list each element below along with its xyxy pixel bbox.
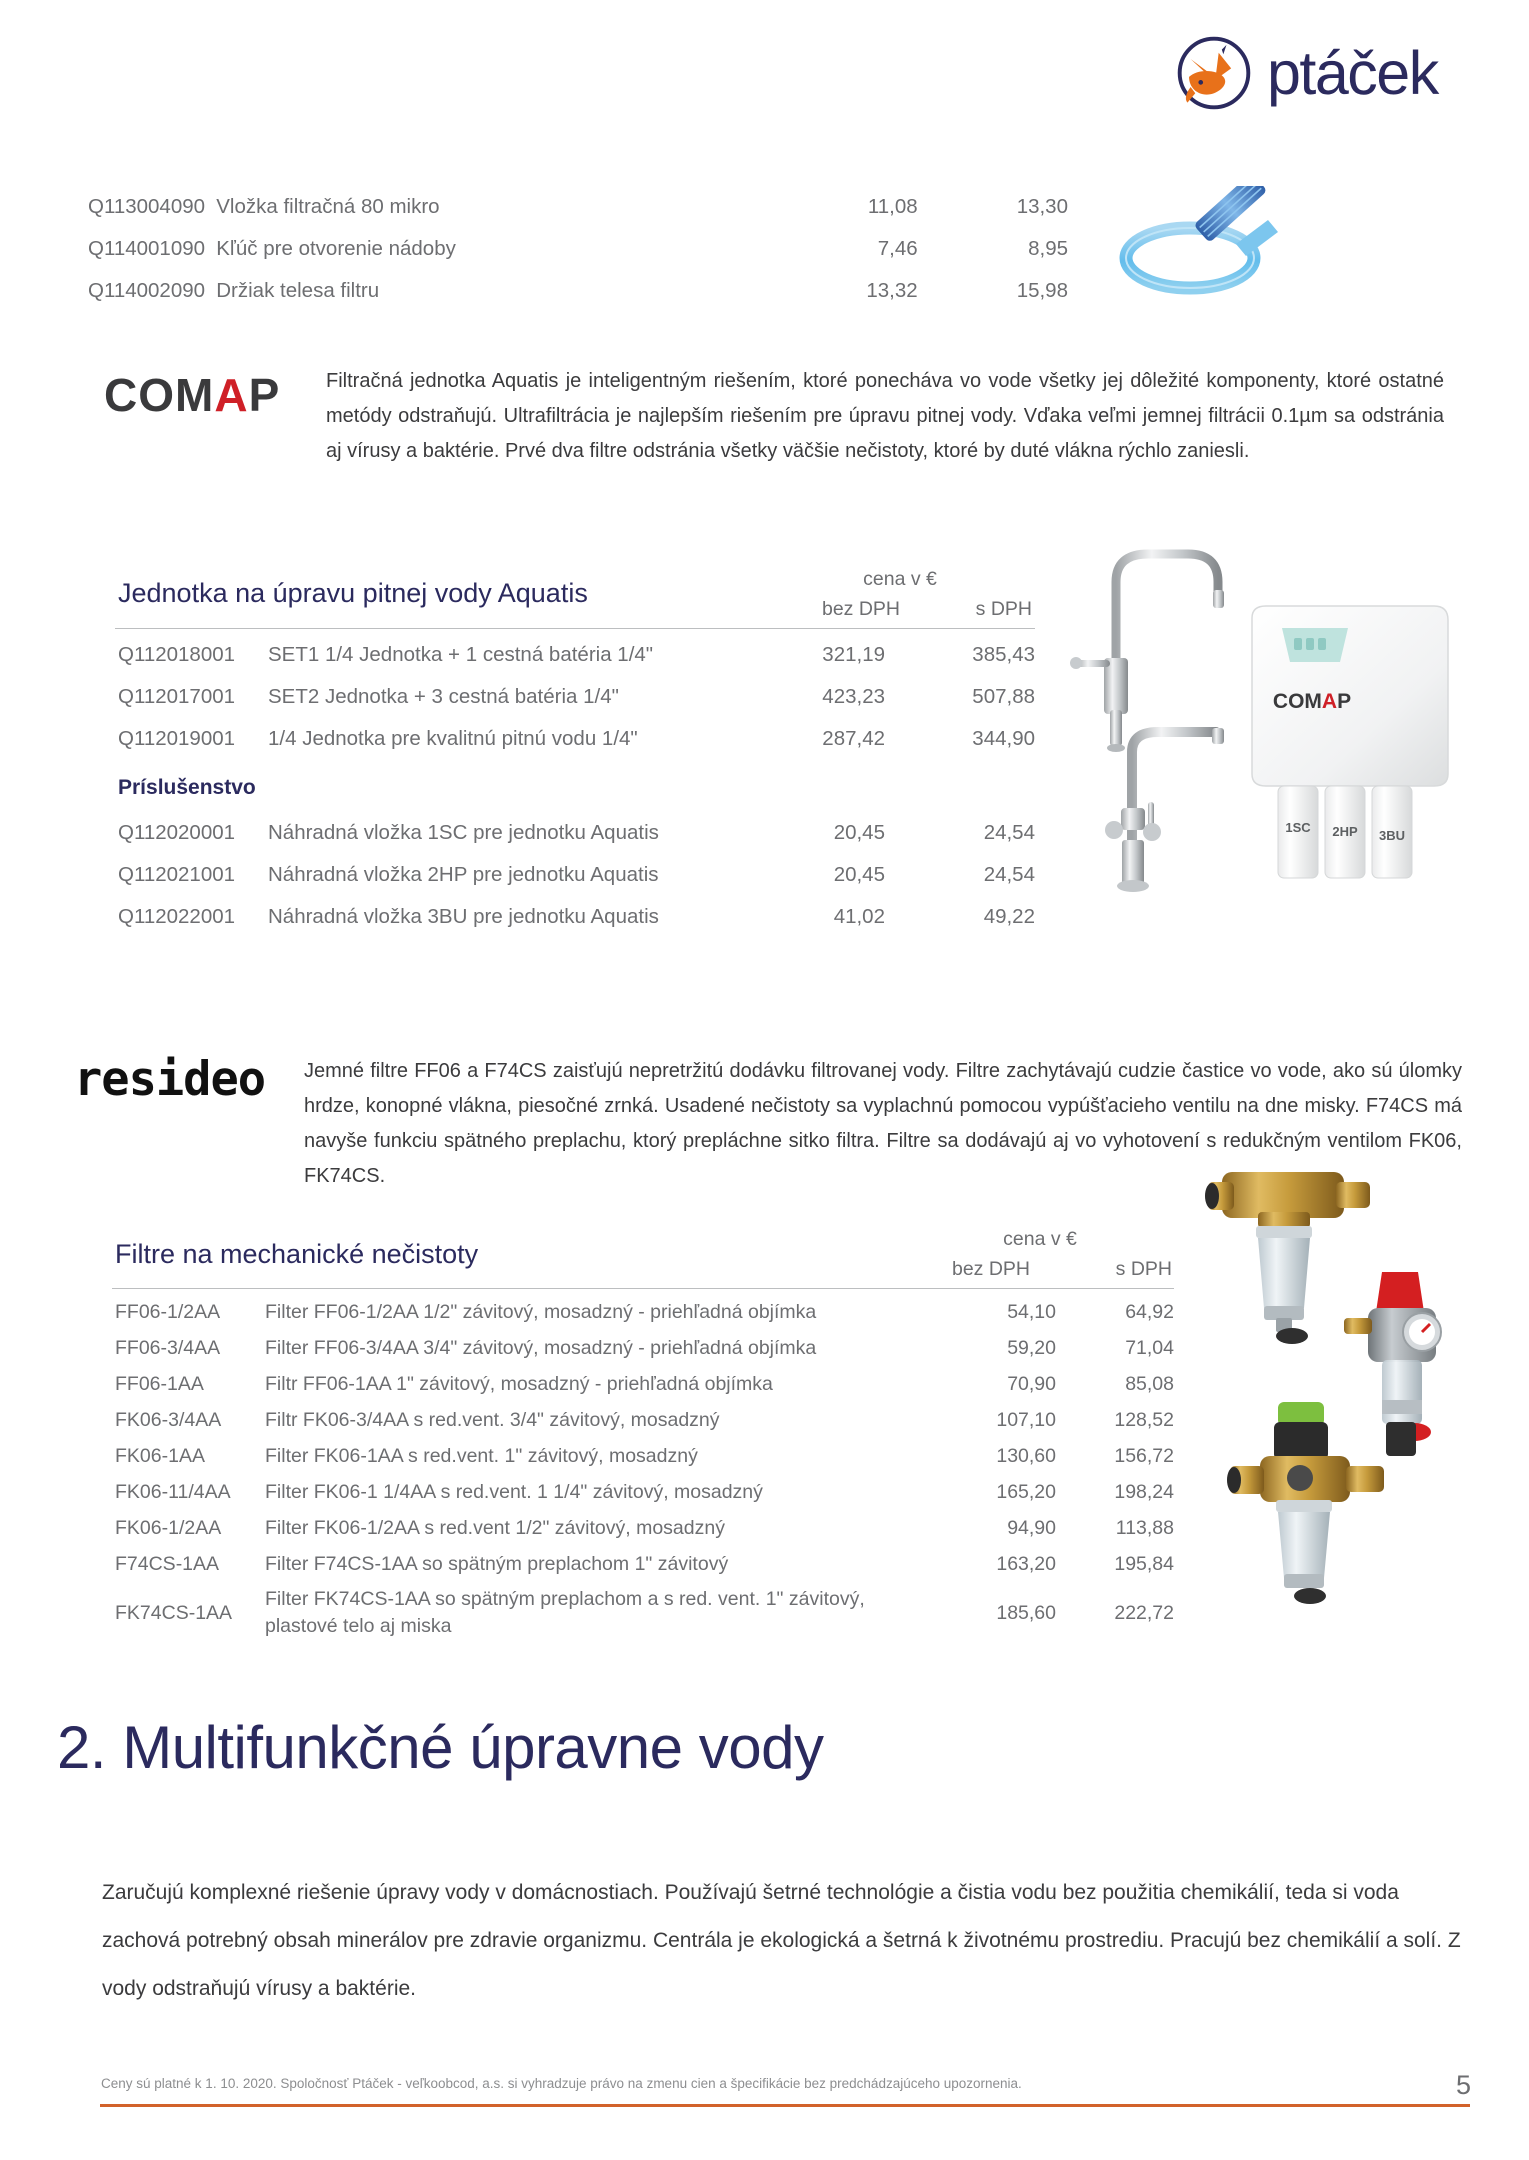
part-desc: SET1 1/4 Jednotka + 1 cestná batéria 1/4…	[268, 634, 745, 676]
price-with-vat: 128,52	[1056, 1402, 1174, 1438]
price-no-vat: 185,60	[936, 1582, 1056, 1644]
price-with-vat: 113,88	[1056, 1510, 1174, 1546]
part-code: FK74CS-1AA	[115, 1582, 265, 1644]
price-with-vat: 198,24	[1056, 1474, 1174, 1510]
filters-table: FF06-1/2AA Filter FF06-1/2AA 1/2" závito…	[115, 1294, 1174, 1644]
filters-price-header: cena v €	[940, 1228, 1140, 1251]
price-with-vat: 13,30	[918, 186, 1068, 228]
table-row: FK06-11/4AA Filter FK06-1 1/4AA s red.ve…	[115, 1474, 1174, 1510]
ff06-filter	[1205, 1172, 1370, 1344]
table-row: FK06-3/4AA Filtr FK06-3/4AA s red.vent. …	[115, 1402, 1174, 1438]
price-no-vat: 130,60	[936, 1438, 1056, 1474]
faucet-tall	[1070, 554, 1224, 752]
part-desc: Náhradná vložka 2HP pre jednotku Aquatis	[268, 854, 745, 896]
price-with-vat: 24,54	[885, 812, 1035, 854]
part-code: Q112019001	[118, 718, 268, 760]
table-row: Q114001090 Kľúč pre otvorenie nádoby 7,4…	[88, 228, 1068, 270]
brand-wordmark: ptáček	[1267, 43, 1438, 104]
part-code: FK06-1/2AA	[115, 1510, 265, 1546]
part-desc: Kľúč pre otvorenie nádoby	[216, 228, 757, 270]
part-code: Q114001090	[88, 228, 216, 270]
price-no-vat: 59,20	[936, 1330, 1056, 1366]
price-no-vat: 54,10	[936, 1294, 1056, 1330]
svg-text:3BU: 3BU	[1379, 828, 1405, 843]
table-row: F74CS-1AA Filter F74CS-1AA so spätným pr…	[115, 1546, 1174, 1582]
top-parts-table: Q113004090 Vložka filtračná 80 mikro 11,…	[88, 186, 1068, 312]
price-no-vat: 287,42	[745, 718, 885, 760]
price-with-vat: 385,43	[885, 634, 1035, 676]
part-code: FK06-11/4AA	[115, 1474, 265, 1510]
part-code: FF06-3/4AA	[115, 1330, 265, 1366]
table-row: FK06-1AA Filter FK06-1AA s red.vent. 1" …	[115, 1438, 1174, 1474]
price-with-vat: 156,72	[1056, 1438, 1174, 1474]
part-desc: Filtr FK06-3/4AA s red.vent. 3/4" závito…	[265, 1402, 936, 1438]
section2-heading: 2. Multifunkčné úpravne vody	[57, 1718, 823, 1778]
filters-table-title: Filtre na mechanické nečistoty	[115, 1239, 635, 1270]
accessories-title: Príslušenstvo	[118, 776, 256, 800]
table-row: FF06-3/4AA Filter FF06-3/4AA 3/4" závito…	[115, 1330, 1174, 1366]
part-desc: Filter FF06-3/4AA 3/4" závitový, mosadzn…	[265, 1330, 936, 1366]
svg-text:1SC: 1SC	[1285, 820, 1311, 835]
price-no-vat: 11,08	[757, 186, 917, 228]
section2-description: Zaručujú komplexné riešenie úpravy vody …	[102, 1869, 1462, 2013]
price-with-vat: 507,88	[885, 676, 1035, 718]
part-desc: Filter FK74CS-1AA so spätným preplachom …	[265, 1582, 936, 1644]
faucet-short	[1105, 728, 1224, 892]
price-with-vat: 64,92	[1056, 1294, 1174, 1330]
table-row: FF06-1/2AA Filter FF06-1/2AA 1/2" závito…	[115, 1294, 1174, 1330]
price-with-vat: 71,04	[1056, 1330, 1174, 1366]
price-with-vat: 24,54	[885, 854, 1035, 896]
aquatis-price-header: cena v €	[800, 568, 1000, 591]
part-code: FF06-1AA	[115, 1366, 265, 1402]
fk06-filter	[1227, 1402, 1384, 1604]
table-row: Q112022001 Náhradná vložka 3BU pre jedno…	[118, 896, 1035, 938]
table-row: Q112021001 Náhradná vložka 2HP pre jedno…	[118, 854, 1035, 896]
price-with-vat: 15,98	[918, 270, 1068, 312]
price-with-vat: 85,08	[1056, 1366, 1174, 1402]
price-no-vat: 165,20	[936, 1474, 1056, 1510]
part-code: FF06-1/2AA	[115, 1294, 265, 1330]
catalog-page: ptáček Q113004090 Vložka filtračná 80 mi…	[0, 0, 1529, 2160]
table-row: Q112017001 SET2 Jednotka + 3 cestná baté…	[118, 676, 1035, 718]
comap-logo-part3: P	[249, 369, 281, 421]
table-row: FK74CS-1AA Filter FK74CS-1AA so spätným …	[115, 1582, 1174, 1644]
part-code: Q112017001	[118, 676, 268, 718]
comap-logo: COMAP	[104, 372, 280, 418]
table-row: Q114002090 Držiak telesa filtru 13,32 15…	[88, 270, 1068, 312]
part-desc: Filter F74CS-1AA so spätným preplachom 1…	[265, 1546, 936, 1582]
part-desc: Filtr FF06-1AA 1" závitový, mosadzný - p…	[265, 1366, 936, 1402]
price-no-vat: 41,02	[745, 896, 885, 938]
part-code: Q114002090	[88, 270, 216, 312]
price-no-vat: 20,45	[745, 854, 885, 896]
part-code: FK06-1AA	[115, 1438, 265, 1474]
aquatis-product-image: COMAP 1SC 2HP 3BU	[1030, 540, 1480, 900]
part-code: Q112022001	[118, 896, 268, 938]
part-desc: Držiak telesa filtru	[216, 270, 757, 312]
price-no-vat: 7,46	[757, 228, 917, 270]
price-with-vat: 195,84	[1056, 1546, 1174, 1582]
part-desc: Filter FF06-1/2AA 1/2" závitový, mosadzn…	[265, 1294, 936, 1330]
filters-col-vat: s DPH	[1000, 1258, 1172, 1281]
table-row: Q112020001 Náhradná vložka 1SC pre jedno…	[118, 812, 1035, 854]
footer-note: Ceny sú platné k 1. 10. 2020. Spoločnosť…	[101, 2076, 1022, 2091]
table-row: Q113004090 Vložka filtračná 80 mikro 11,…	[88, 186, 1068, 228]
price-no-vat: 163,20	[936, 1546, 1056, 1582]
price-with-vat: 49,22	[885, 896, 1035, 938]
aquatis-table: Q112018001 SET1 1/4 Jednotka + 1 cestná …	[118, 634, 1035, 760]
footer-rule	[100, 2104, 1470, 2107]
price-with-vat: 8,95	[918, 228, 1068, 270]
part-desc: SET2 Jednotka + 3 cestná batéria 1/4"	[268, 676, 745, 718]
svg-text:2HP: 2HP	[1332, 824, 1358, 839]
brand-logo: ptáček	[1175, 34, 1438, 112]
aquatis-unit-body: COMAP 1SC 2HP 3BU	[1252, 606, 1448, 878]
part-desc: Filter FK06-1/2AA s red.vent 1/2" závito…	[265, 1510, 936, 1546]
filter-wrench-image	[1118, 186, 1338, 296]
aquatis-table-title: Jednotka na úpravu pitnej vody Aquatis	[118, 578, 618, 609]
price-with-vat: 344,90	[885, 718, 1035, 760]
part-desc: Filter FK06-1AA s red.vent. 1" závitový,…	[265, 1438, 936, 1474]
part-code: Q112020001	[118, 812, 268, 854]
fk74cs-filter	[1344, 1272, 1441, 1456]
comap-logo-part1: COM	[104, 369, 214, 421]
part-desc: Náhradná vložka 3BU pre jednotku Aquatis	[268, 896, 745, 938]
comap-logo-part2: A	[214, 369, 248, 421]
part-code: F74CS-1AA	[115, 1546, 265, 1582]
table-row: Q112018001 SET1 1/4 Jednotka + 1 cestná …	[118, 634, 1035, 676]
part-code: Q112018001	[118, 634, 268, 676]
table-row: FF06-1AA Filtr FF06-1AA 1" závitový, mos…	[115, 1366, 1174, 1402]
table-row: Q112019001 1/4 Jednotka pre kvalitnú pit…	[118, 718, 1035, 760]
page-number: 5	[1456, 2070, 1471, 2101]
price-no-vat: 70,90	[936, 1366, 1056, 1402]
price-no-vat: 423,23	[745, 676, 885, 718]
part-code: Q113004090	[88, 186, 216, 228]
ptacek-bird-icon	[1175, 34, 1253, 112]
aquatis-accessories-table: Q112020001 Náhradná vložka 1SC pre jedno…	[118, 812, 1035, 938]
table-row: FK06-1/2AA Filter FK06-1/2AA s red.vent …	[115, 1510, 1174, 1546]
part-desc: Náhradná vložka 1SC pre jednotku Aquatis	[268, 812, 745, 854]
mechanical-filters-image	[1186, 1160, 1486, 1610]
price-no-vat: 321,19	[745, 634, 885, 676]
price-with-vat: 222,72	[1056, 1582, 1174, 1644]
resideo-logo: resideo	[74, 1056, 265, 1103]
part-desc: 1/4 Jednotka pre kvalitnú pitnú vodu 1/4…	[268, 718, 745, 760]
part-desc: Filter FK06-1 1/4AA s red.vent. 1 1/4" z…	[265, 1474, 936, 1510]
part-code: Q112021001	[118, 854, 268, 896]
svg-text:COMAP: COMAP	[1273, 690, 1351, 713]
part-code: FK06-3/4AA	[115, 1402, 265, 1438]
price-no-vat: 107,10	[936, 1402, 1056, 1438]
aquatis-header-rule	[115, 628, 1035, 629]
price-no-vat: 13,32	[757, 270, 917, 312]
part-desc: Vložka filtračná 80 mikro	[216, 186, 757, 228]
aquatis-col-vat: s DPH	[860, 598, 1032, 621]
filters-header-rule	[112, 1288, 1174, 1289]
price-no-vat: 20,45	[745, 812, 885, 854]
comap-description: Filtračná jednotka Aquatis je inteligent…	[326, 364, 1444, 469]
price-no-vat: 94,90	[936, 1510, 1056, 1546]
